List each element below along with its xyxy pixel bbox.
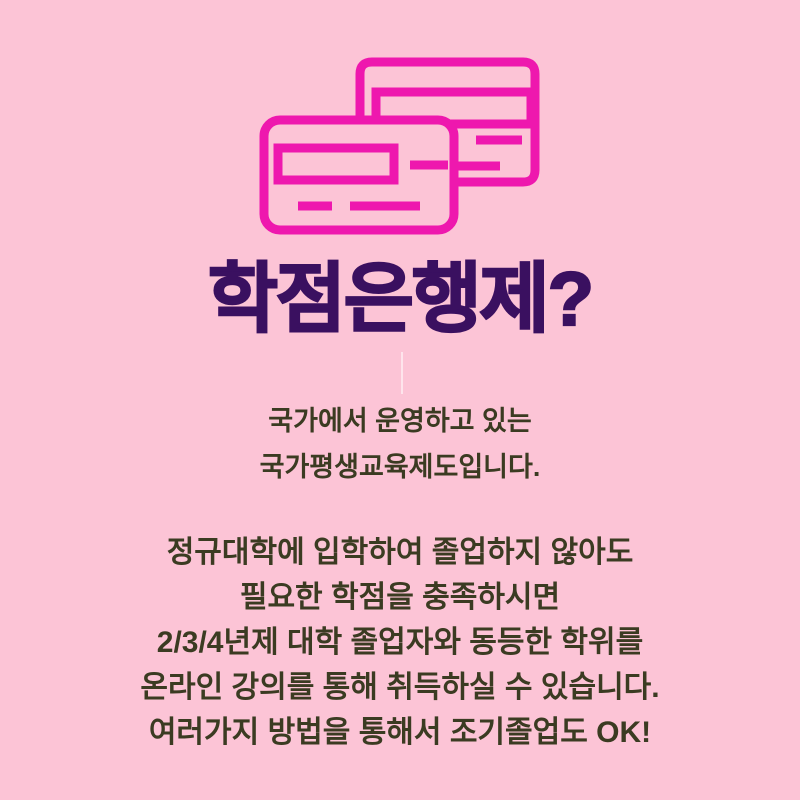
body-line-2: 필요한 학점을 충족하시면 bbox=[0, 575, 800, 620]
body-line-5: 여러가지 방법을 통해서 조기졸업도 OK! bbox=[0, 710, 800, 755]
body-line-4: 온라인 강의를 통해 취득하실 수 있습니다. bbox=[0, 665, 800, 710]
subtitle-line-1: 국가에서 운영하고 있는 bbox=[0, 398, 800, 444]
front-card-outline bbox=[264, 120, 454, 230]
body-line-1: 정규대학에 입학하여 졸업하지 않아도 bbox=[0, 530, 800, 575]
subtitle-line-2: 국가평생교육제도입니다. bbox=[0, 444, 800, 490]
body-copy-block: 정규대학에 입학하여 졸업하지 않아도 필요한 학점을 충족하시면 2/3/4년… bbox=[0, 530, 800, 755]
icon-area bbox=[0, 48, 800, 248]
body-line-3: 2/3/4년제 대학 졸업자와 동등한 학위를 bbox=[0, 620, 800, 665]
poster-canvas: 학점은행제? 국가에서 운영하고 있는 국가평생교육제도입니다. 정규대학에 입… bbox=[0, 0, 800, 800]
two-credit-cards-icon bbox=[250, 48, 550, 248]
page-title: 학점은행제? bbox=[0, 262, 800, 338]
subtitle-block: 국가에서 운영하고 있는 국가평생교육제도입니다. bbox=[0, 398, 800, 490]
compression-streak bbox=[401, 352, 403, 394]
